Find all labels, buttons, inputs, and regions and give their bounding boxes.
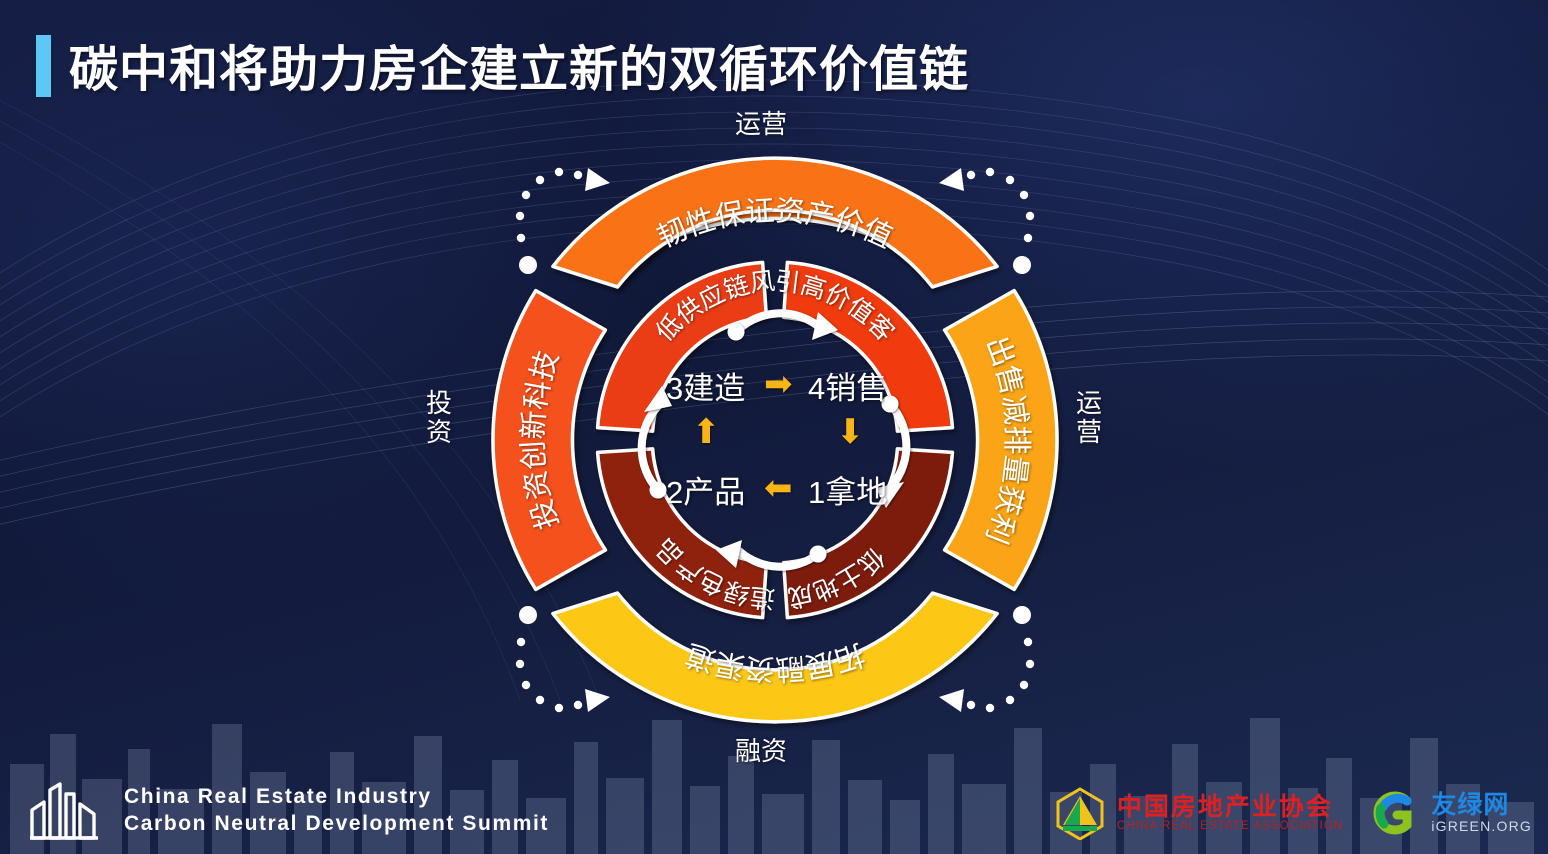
crea-text: 中国房地产业协会 CHINA REAL ESTATE ASSOCIATION — [1117, 794, 1343, 832]
partner-logos: 中国房地产业协会 CHINA REAL ESTATE ASSOCIATION 友… — [1053, 786, 1532, 840]
stage-label-top: 运营 — [735, 110, 787, 139]
core-stage-build: 3建造 — [666, 363, 745, 408]
crea-name-en: CHINA REAL ESTATE ASSOCIATION — [1117, 820, 1343, 832]
title-accent-bar — [36, 35, 51, 97]
summit-line-1: China Real Estate Industry — [124, 784, 549, 811]
igreen-text: 友绿网 iGREEN.ORG — [1431, 792, 1532, 834]
summit-line-2: Carbon Neutral Development Summit — [124, 811, 549, 838]
crea-name-cn: 中国房地产业协会 — [1117, 794, 1343, 820]
crea-logo-block[interactable]: 中国房地产业协会 CHINA REAL ESTATE ASSOCIATION — [1053, 786, 1343, 840]
crea-hexagon-icon — [1053, 786, 1107, 840]
igreen-g-icon — [1369, 788, 1423, 838]
core-value-cycle: 3建造 4销售 2产品 1拿地 ➡ ⬅ ⬆ ⬇ — [636, 355, 916, 515]
core-arrow-right-icon: ➡ — [764, 367, 793, 401]
core-arrow-up-icon: ⬆ — [692, 415, 721, 449]
core-arrow-left-icon: ⬅ — [764, 471, 793, 505]
summit-branding: China Real Estate Industry Carbon Neutra… — [28, 780, 549, 842]
summit-title: China Real Estate Industry Carbon Neutra… — [124, 784, 549, 838]
slide-title: 碳中和将助力房企建立新的双循环价值链 — [36, 30, 969, 101]
summit-building-icon — [28, 780, 110, 842]
core-stage-sell: 4销售 — [808, 363, 887, 408]
igreen-name-cn: 友绿网 — [1431, 792, 1532, 818]
igreen-name-en: iGREEN.ORG — [1431, 818, 1532, 834]
core-stage-product: 2产品 — [666, 467, 745, 512]
igreen-logo-block[interactable]: 友绿网 iGREEN.ORG — [1369, 788, 1532, 838]
core-stage-land: 1拿地 — [808, 467, 887, 512]
stage-label-bottom: 融资 — [735, 737, 787, 766]
core-arrow-down-icon: ⬇ — [836, 415, 865, 449]
page-title: 碳中和将助力房企建立新的双循环价值链 — [69, 30, 969, 101]
